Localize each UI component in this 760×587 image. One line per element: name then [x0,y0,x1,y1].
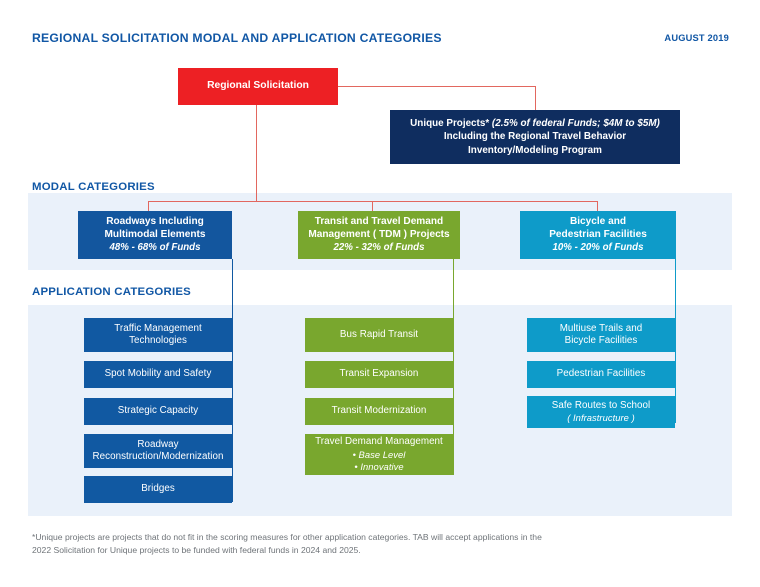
application-category-bridges[interactable]: Bridges [84,476,232,503]
modal-category-transit-tdm[interactable]: Transit and Travel Demand Management ( T… [298,211,460,259]
application-category-travel-demand-management-line1: Travel Demand Management [315,436,443,448]
modal-categories-heading: MODAL CATEGORIES [32,181,155,193]
application-category-transit-expansion-line1: Transit Expansion [340,368,419,380]
connector-root-to-unique-horizontal [338,86,535,87]
application-category-pedestrian-facilities-line1: Pedestrian Facilities [557,368,646,380]
modal-category-bicycle-pedestrian-line1: Bicycle and [570,216,626,229]
application-category-multiuse-trails-line2: Bicycle Facilities [565,335,638,347]
modal-category-bicycle-pedestrian[interactable]: Bicycle and Pedestrian Facilities 10% - … [520,211,676,259]
application-category-spot-mobility-line1: Spot Mobility and Safety [105,368,212,380]
application-category-traffic-management-line1: Traffic Management [114,323,201,335]
application-category-safe-routes-to-school-line1: Safe Routes to School [552,400,651,412]
application-category-bridges-line1: Bridges [141,483,175,495]
application-category-bus-rapid-transit-line1: Bus Rapid Transit [340,329,418,341]
node-unique-projects-line2: Including the Regional Travel Behavior [444,130,626,143]
application-category-pedestrian-facilities[interactable]: Pedestrian Facilities [527,361,675,388]
application-category-roadway-reconstruction-line1: Roadway [137,439,178,451]
application-category-roadway-reconstruction[interactable]: Roadway Reconstruction/Modernization [84,434,232,468]
application-category-multiuse-trails[interactable]: Multiuse Trails and Bicycle Facilities [527,318,675,352]
application-category-travel-demand-management-bullet-1: • Base Level [353,449,406,461]
application-category-multiuse-trails-line1: Multiuse Trails and [560,323,643,335]
application-category-strategic-capacity-line1: Strategic Capacity [118,405,198,417]
application-category-spot-mobility[interactable]: Spot Mobility and Safety [84,361,232,388]
node-regional-solicitation[interactable]: Regional Solicitation [178,68,338,105]
modal-category-transit-tdm-line2: Management ( TDM ) Projects [308,229,449,242]
application-categories-heading: APPLICATION CATEGORIES [32,286,191,298]
node-unique-projects-line1: Unique Projects* (2.5% of federal Funds;… [410,117,660,130]
connector-transit-spine [453,259,454,475]
application-category-travel-demand-management[interactable]: Travel Demand Management • Base Level • … [305,434,453,475]
node-regional-solicitation-label: Regional Solicitation [207,80,309,92]
page-title: REGIONAL SOLICITATION MODAL AND APPLICAT… [32,31,442,45]
modal-category-roadways-line1: Roadways Including [106,216,204,229]
node-unique-projects-bold: Unique Projects* [410,118,489,129]
node-unique-projects-line3: Inventory/Modeling Program [468,144,602,157]
application-category-strategic-capacity[interactable]: Strategic Capacity [84,398,232,425]
document-date: AUGUST 2019 [664,33,729,43]
modal-category-roadways-line2: Multimodal Elements [105,229,206,242]
node-unique-projects[interactable]: Unique Projects* (2.5% of federal Funds;… [390,110,680,164]
node-unique-projects-italic: (2.5% of federal Funds; $4M to $5M) [489,118,660,129]
connector-modal-distribution-bar [148,201,598,202]
modal-category-bicycle-pedestrian-funds: 10% - 20% of Funds [553,242,644,254]
footnote: *Unique projects are projects that do no… [32,531,552,558]
modal-category-transit-tdm-funds: 22% - 32% of Funds [334,242,425,254]
connector-root-to-unique-vertical [535,86,536,110]
modal-category-roadways-funds: 48% - 68% of Funds [110,242,201,254]
connector-roadways-spine [232,259,233,502]
application-category-transit-expansion[interactable]: Transit Expansion [305,361,453,388]
modal-category-transit-tdm-line1: Transit and Travel Demand [315,216,443,229]
modal-category-bicycle-pedestrian-line2: Pedestrian Facilities [549,229,647,242]
application-category-transit-modernization-line1: Transit Modernization [332,405,427,417]
application-category-traffic-management-line2: Technologies [129,335,187,347]
application-category-roadway-reconstruction-line2: Reconstruction/Modernization [93,451,224,463]
application-category-transit-modernization[interactable]: Transit Modernization [305,398,453,425]
modal-category-roadways[interactable]: Roadways Including Multimodal Elements 4… [78,211,232,259]
connector-bicycle-spine [675,259,676,423]
application-category-bus-rapid-transit[interactable]: Bus Rapid Transit [305,318,453,352]
application-category-safe-routes-to-school-line2: ( Infrastructure ) [567,412,635,424]
application-category-travel-demand-management-bullet-2: • Innovative [354,461,403,473]
connector-root-trunk [256,105,257,202]
application-category-traffic-management[interactable]: Traffic Management Technologies [84,318,232,352]
application-category-safe-routes-to-school[interactable]: Safe Routes to School ( Infrastructure ) [527,396,675,428]
diagram-canvas: REGIONAL SOLICITATION MODAL AND APPLICAT… [0,0,760,587]
